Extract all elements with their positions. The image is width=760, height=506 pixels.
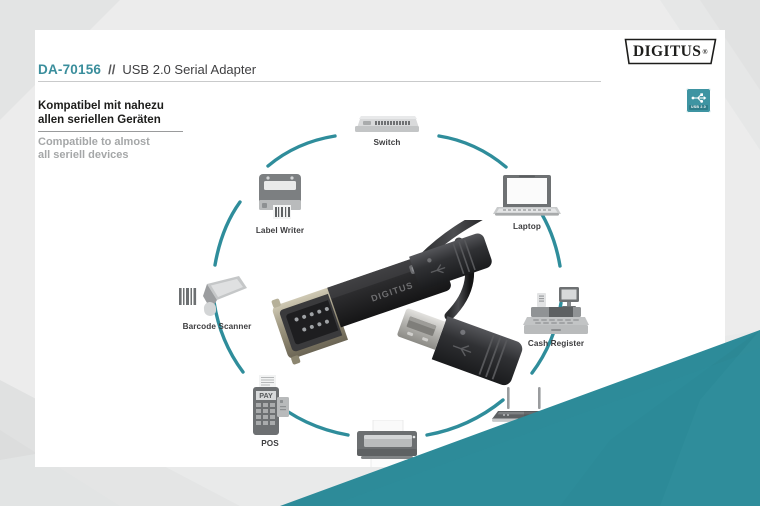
node-label-modem: Modem xyxy=(509,429,538,438)
product-image-serial-adapter: DIGITUS xyxy=(263,220,543,400)
usb-type-a-plug xyxy=(393,302,524,387)
barcode-scanner-icon xyxy=(177,270,257,320)
compatibility-diagram: Switch Laptop xyxy=(35,90,725,467)
header-divider xyxy=(38,81,601,82)
product-sku: DA-70156 xyxy=(38,62,101,77)
node-label-pos: POS xyxy=(261,439,279,448)
node-label-barcode-scanner: Barcode Scanner xyxy=(183,322,252,331)
digitus-logo: DIGITUS® xyxy=(624,38,717,65)
logo-wordmark: DIGITUS xyxy=(633,43,701,61)
laptop-icon xyxy=(493,172,561,220)
label-writer-icon xyxy=(251,172,309,224)
printer-icon xyxy=(351,420,423,467)
content-card: DA-70156 // USB 2.0 Serial Adapter Kompa… xyxy=(35,30,725,467)
product-name: USB 2.0 Serial Adapter xyxy=(122,62,256,77)
header: DA-70156 // USB 2.0 Serial Adapter xyxy=(38,62,598,82)
node-barcode-scanner: Barcode Scanner xyxy=(177,270,257,331)
node-printer: Printer xyxy=(351,420,423,467)
usb-plug-attached xyxy=(409,232,494,291)
node-label-switch: Switch xyxy=(374,138,401,147)
registered-trademark-icon: ® xyxy=(702,48,708,56)
header-separator: // xyxy=(108,62,115,77)
network-switch-icon xyxy=(351,108,423,136)
node-switch: Switch xyxy=(351,108,423,147)
